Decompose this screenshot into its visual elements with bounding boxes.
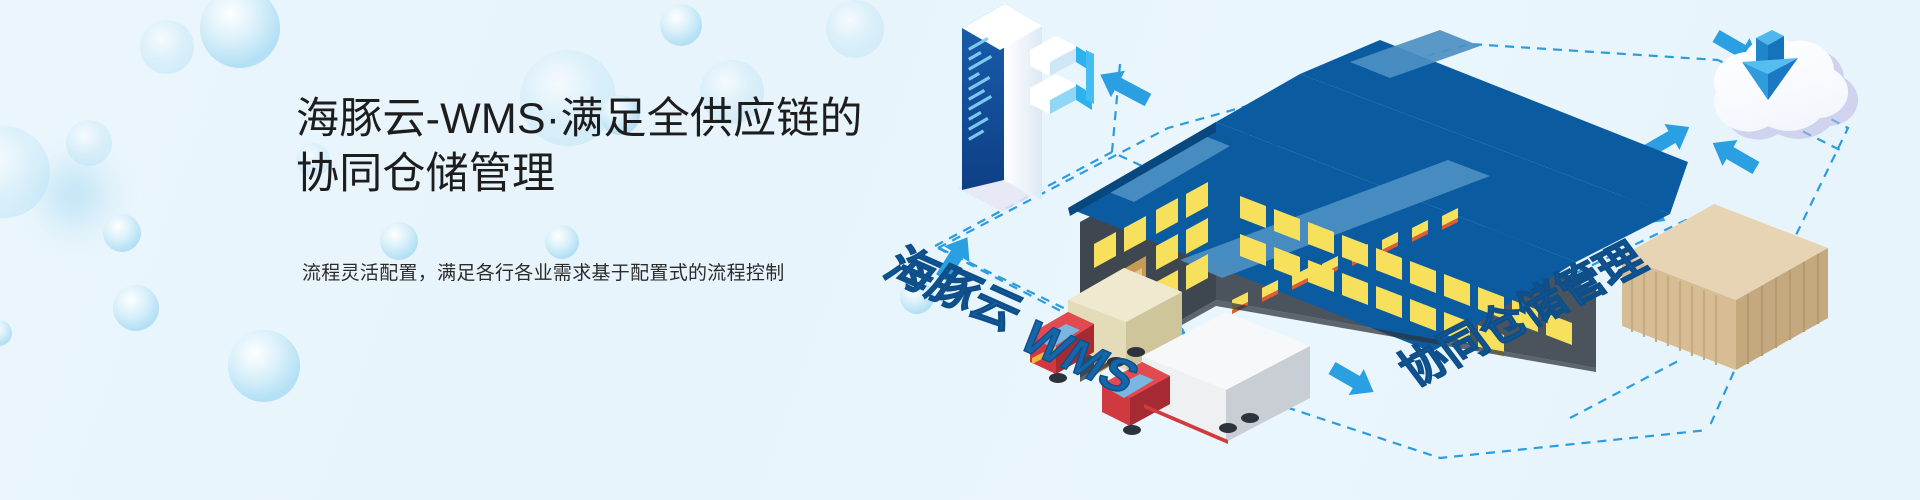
bubble-decor	[200, 0, 280, 68]
arrow-icon	[1325, 355, 1382, 405]
arrow-icon	[1093, 61, 1155, 113]
bubble-decor	[113, 285, 159, 331]
bubble-decor	[40, 160, 114, 234]
warehouse-illustration: 海豚云 WMS 协同仓储管理	[880, 0, 1920, 500]
bubble-decor	[826, 0, 884, 58]
bubble-decor	[228, 330, 300, 402]
page-subtitle: 流程灵活配置，满足各行各业需求基于配置式的流程控制	[296, 202, 916, 289]
page-title: 海豚云-WMS·满足全供应链的 协同仓储管理	[296, 92, 916, 202]
bubble-decor	[660, 4, 702, 46]
bubble-decor	[0, 320, 12, 346]
bubble-decor	[140, 20, 194, 74]
server-rack	[958, 4, 1094, 212]
wms-hero-banner: 海豚云-WMS·满足全供应链的 协同仓储管理 流程灵活配置，满足各行各业需求基于…	[0, 0, 1920, 500]
bubble-decor	[0, 126, 50, 218]
hero-copy: 海豚云-WMS·满足全供应链的 协同仓储管理 流程灵活配置，满足各行各业需求基于…	[296, 92, 916, 289]
bubble-decor	[103, 214, 141, 252]
bubble-decor	[66, 120, 112, 166]
shipping-container	[1622, 204, 1828, 370]
